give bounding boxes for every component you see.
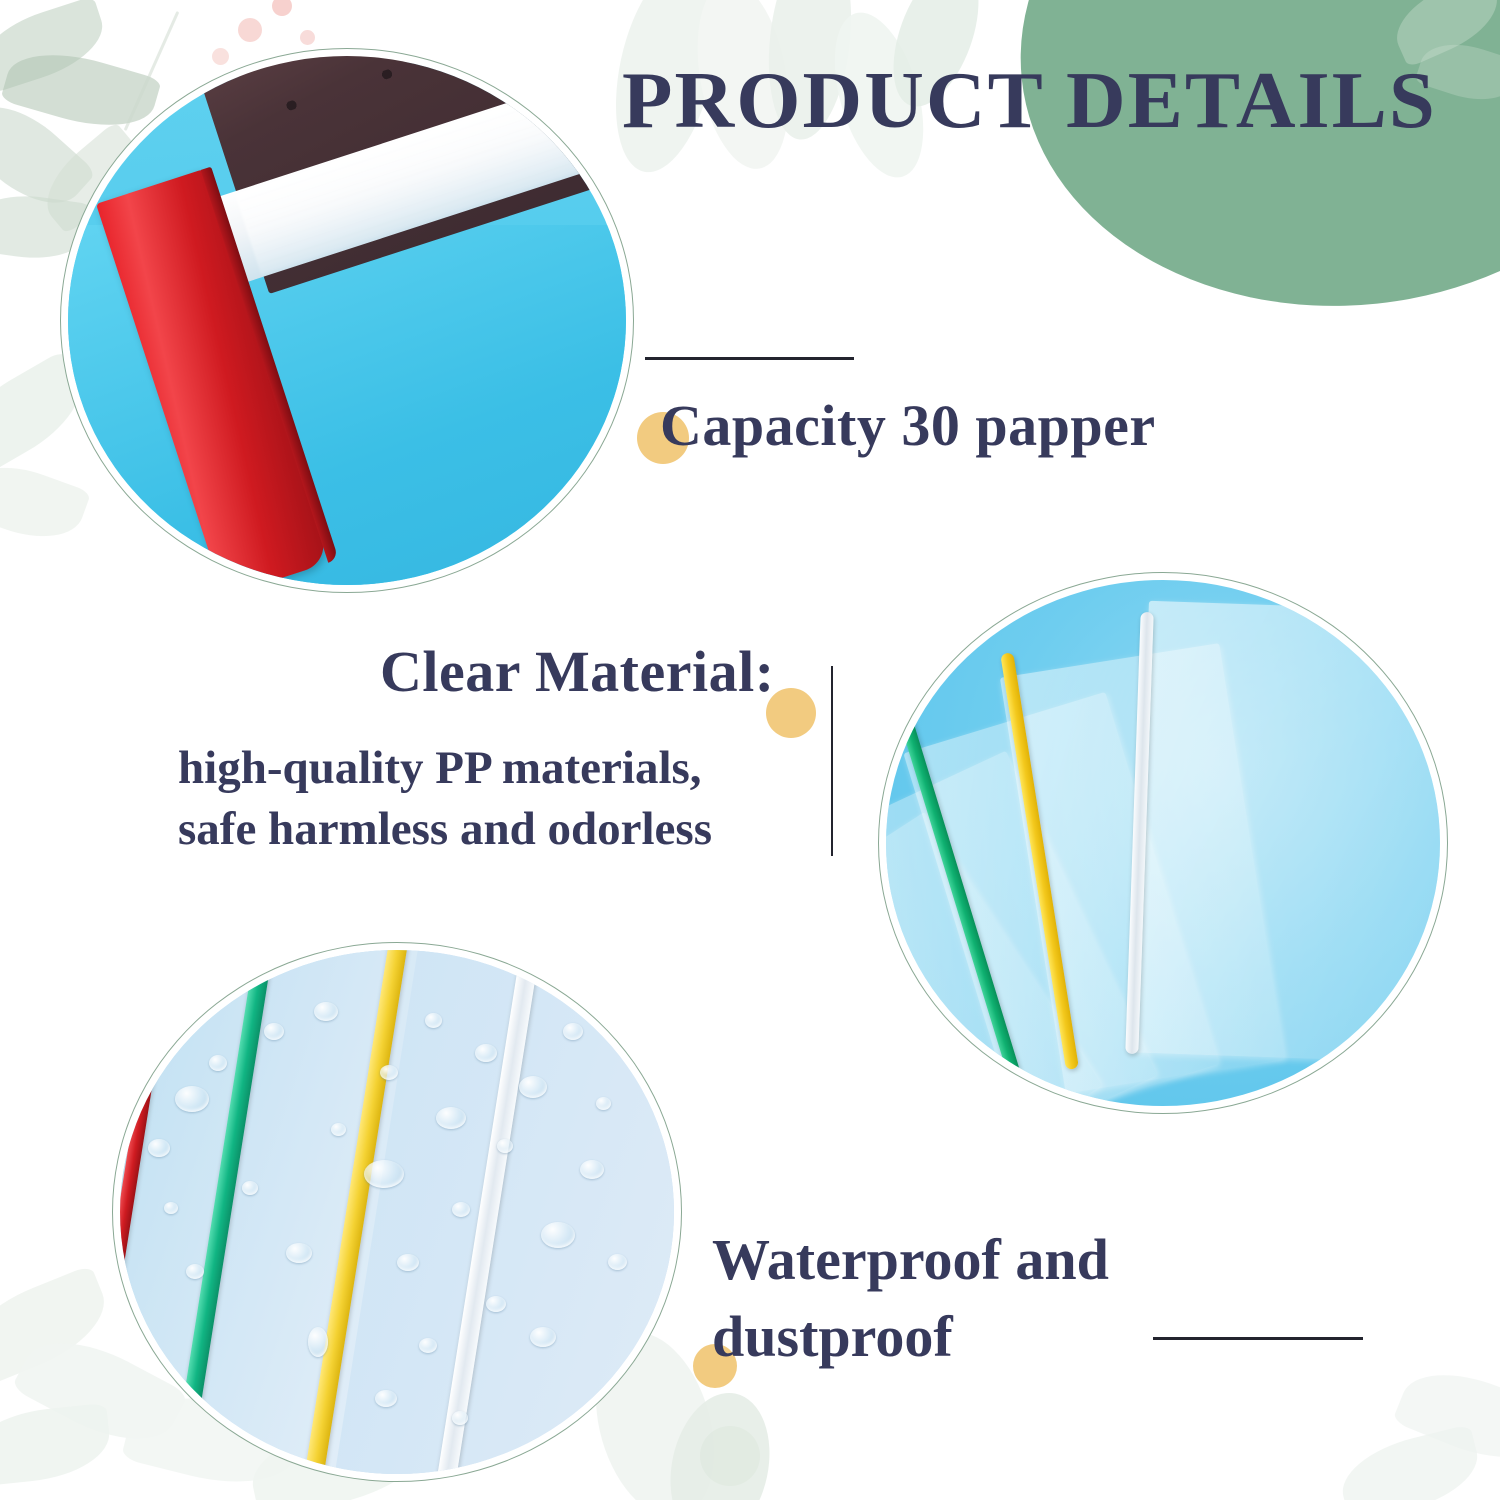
water-droplet — [148, 1139, 170, 1157]
page-title: PRODUCT DETAILS — [622, 58, 1479, 143]
water-droplet — [364, 1160, 404, 1188]
berry-icon — [300, 30, 315, 45]
water-droplet — [452, 1202, 470, 1217]
water-droplet — [475, 1044, 497, 1062]
feature-body-line: high-quality PP materials, — [178, 738, 838, 799]
water-droplet — [486, 1296, 506, 1312]
photo-waterproof-droplets — [112, 942, 682, 1482]
water-droplet — [519, 1076, 547, 1098]
photo-inner — [68, 56, 626, 585]
water-droplet — [608, 1254, 627, 1270]
berry-icon — [272, 0, 292, 16]
photo-red-slide-binder — [60, 48, 634, 593]
photo-inner — [120, 950, 674, 1474]
divider-waterproof — [1153, 1337, 1363, 1340]
feature-body-clear-material: high-quality PP materials, safe harmless… — [178, 738, 838, 860]
feature-body-line: safe harmless and odorless — [178, 799, 838, 860]
berry-icon — [238, 18, 262, 42]
feature-heading-clear-material: Clear Material: — [380, 638, 775, 705]
water-droplet — [331, 1123, 346, 1136]
water-droplet — [419, 1338, 437, 1353]
leaf-icon — [0, 1403, 113, 1487]
photo-fanned-clear-covers — [878, 572, 1448, 1114]
water-droplet — [497, 1139, 513, 1153]
divider-capacity — [645, 357, 854, 360]
leaf-icon — [1392, 1355, 1500, 1478]
water-droplet — [164, 1202, 178, 1214]
water-droplet — [242, 1181, 258, 1195]
water-droplet — [209, 1055, 227, 1071]
feature-heading-capacity: Capacity 30 papper — [660, 392, 1156, 459]
feature-heading-line: Waterproof and — [712, 1222, 1332, 1299]
photo-inner — [886, 580, 1440, 1106]
water-droplet — [580, 1160, 604, 1179]
leaf-icon — [0, 1265, 118, 1390]
green-circle-shape — [995, 0, 1500, 338]
berry-icon — [700, 1426, 760, 1486]
water-droplet — [397, 1254, 419, 1271]
leaf-icon — [657, 1384, 782, 1500]
water-droplet — [425, 1013, 442, 1028]
leaf-icon — [1334, 1424, 1486, 1500]
water-droplet — [375, 1390, 397, 1407]
water-droplet — [436, 1107, 466, 1129]
infographic-canvas: PRODUCT DETAILS Capacity 30 papper — [0, 0, 1500, 1500]
feature-heading-waterproof: Waterproof and dustproof — [712, 1222, 1332, 1375]
